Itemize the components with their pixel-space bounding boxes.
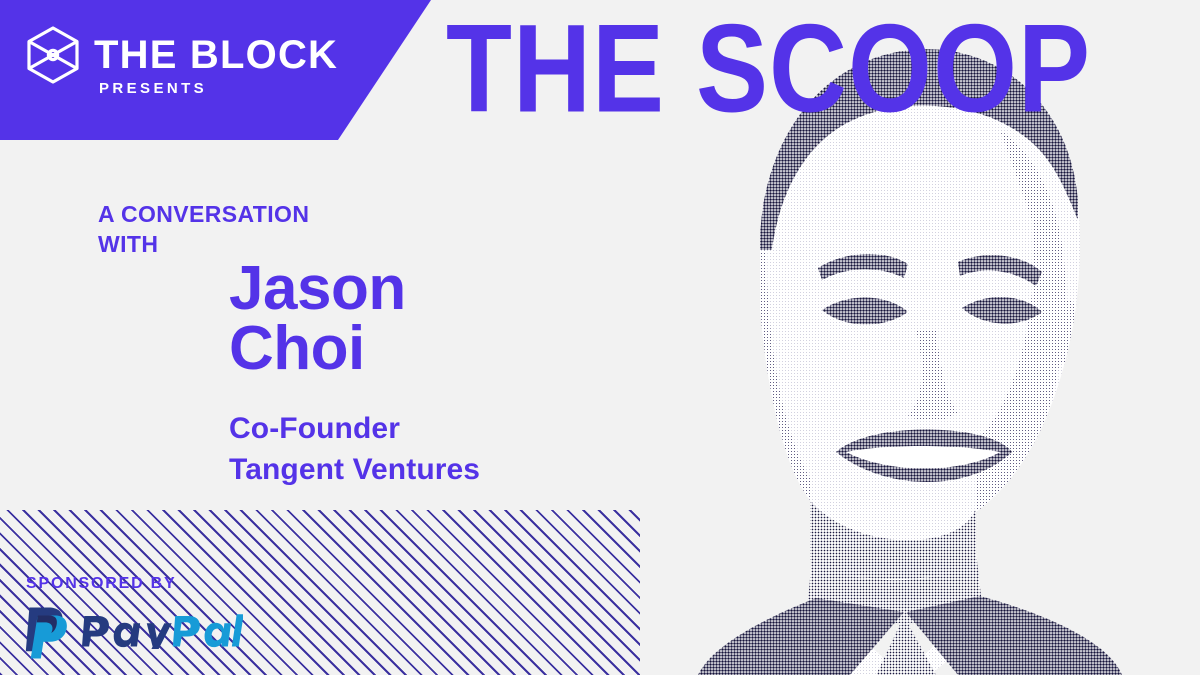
conversation-intro-line-2: WITH <box>98 231 158 257</box>
guest-role: Co-Founder <box>229 408 480 449</box>
paypal-logo-icon <box>20 601 72 659</box>
guest-company: Tangent Ventures <box>229 449 480 490</box>
conversation-intro-line-1: A CONVERSATION <box>98 201 309 227</box>
brand-name: THE BLOCK <box>94 35 338 75</box>
show-title: THE SCOOP <box>446 6 1091 131</box>
paypal-wordmark <box>81 611 243 649</box>
guest-name: Jason Choi <box>229 259 406 379</box>
conversation-intro: A CONVERSATION WITH <box>98 200 398 260</box>
guest-first-name: Jason <box>229 259 406 319</box>
guest-last-name: Choi <box>229 319 406 379</box>
block-cube-icon <box>26 26 80 84</box>
sponsored-by-label: SPONSORED BY <box>26 575 177 593</box>
brand-logo[interactable]: THE BLOCK <box>26 26 338 84</box>
sponsor-logo[interactable] <box>20 601 243 659</box>
podcast-episode-card: THE BLOCK PRESENTS THE SCOOP A CONVERSAT… <box>0 0 1200 675</box>
guest-role-block: Co-Founder Tangent Ventures <box>229 408 480 491</box>
presents-label: PRESENTS <box>99 80 207 97</box>
